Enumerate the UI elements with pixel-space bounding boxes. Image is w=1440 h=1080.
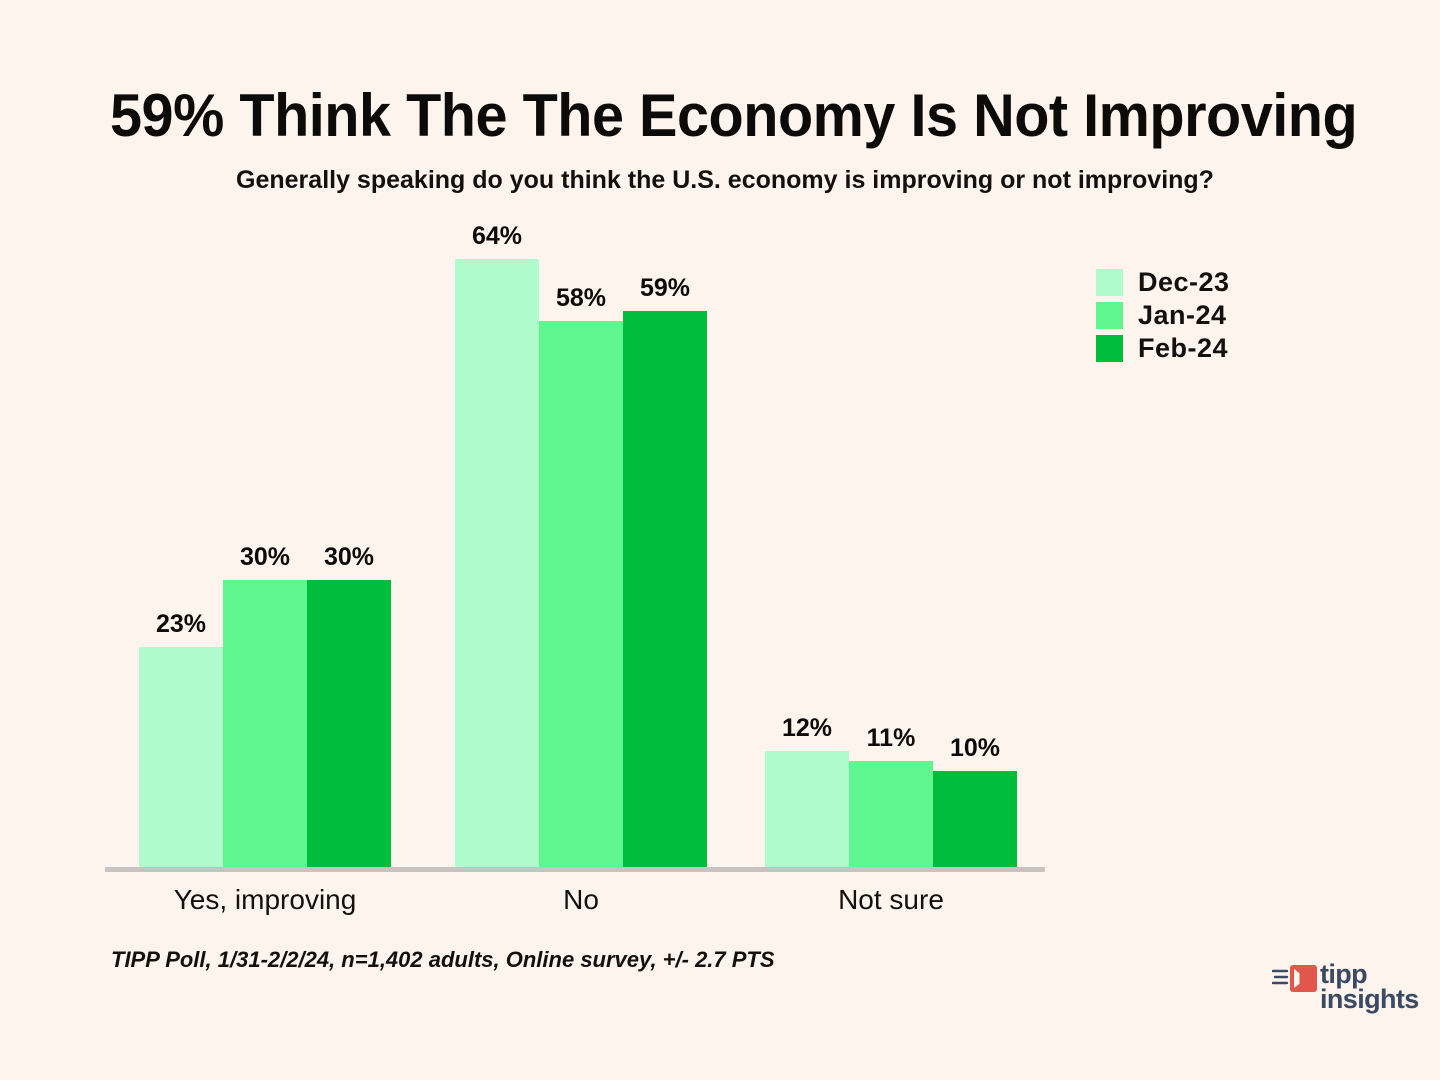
bar-wrap-jan24: 58%	[539, 211, 623, 867]
legend-label-jan24: Jan-24	[1138, 300, 1227, 331]
category-label-not-sure: Not sure	[745, 884, 1037, 916]
bar-value-label: 30%	[307, 543, 391, 572]
tipp-arrow-mark-icon	[1272, 965, 1318, 997]
logo-wordmark: tipp insights	[1320, 962, 1419, 1012]
bar-value-label: 10%	[933, 734, 1017, 763]
logo-word-insights: insights	[1320, 987, 1419, 1012]
bar-dec23[interactable]	[139, 647, 223, 867]
plot-area: 23% 30% 30% Yes, improving 64%	[105, 210, 1050, 872]
bar-value-label: 12%	[765, 714, 849, 743]
bar-dec23[interactable]	[455, 259, 539, 867]
bar-wrap-dec23: 23%	[139, 211, 223, 867]
bar-wrap-jan24: 11%	[849, 211, 933, 867]
category-label-yes-improving: Yes, improving	[119, 884, 411, 916]
legend-item-jan24[interactable]: Jan-24	[1096, 299, 1230, 332]
x-axis-line	[105, 867, 1045, 872]
legend-swatch-dec23	[1096, 269, 1123, 296]
legend-swatch-feb24	[1096, 335, 1123, 362]
legend-label-dec23: Dec-23	[1138, 267, 1230, 298]
bar-wrap-dec23: 12%	[765, 211, 849, 867]
bar-value-label: 30%	[223, 543, 307, 572]
bar-wrap-jan24: 30%	[223, 211, 307, 867]
bar-jan24[interactable]	[539, 321, 623, 867]
bar-set: 12% 11% 10%	[765, 211, 1017, 867]
source-footnote: TIPP Poll, 1/31-2/2/24, n=1,402 adults, …	[111, 947, 775, 973]
page-title: 59% Think The The Economy Is Not Improvi…	[110, 82, 1291, 150]
bar-value-label: 58%	[539, 284, 623, 313]
category-label-no: No	[435, 884, 727, 916]
bar-jan24[interactable]	[849, 761, 933, 867]
bar-wrap-feb24: 30%	[307, 211, 391, 867]
legend-item-dec23[interactable]: Dec-23	[1096, 266, 1230, 299]
bar-wrap-dec23: 64%	[455, 211, 539, 867]
bar-set: 23% 30% 30%	[139, 211, 391, 867]
chart-legend: Dec-23 Jan-24 Feb-24	[1096, 266, 1230, 365]
bar-value-label: 59%	[623, 274, 707, 303]
legend-item-feb24[interactable]: Feb-24	[1096, 332, 1230, 365]
legend-label-feb24: Feb-24	[1138, 333, 1228, 364]
bar-value-label: 11%	[849, 724, 933, 753]
bar-feb24[interactable]	[933, 771, 1017, 867]
bar-wrap-feb24: 59%	[623, 211, 707, 867]
bar-value-label: 64%	[455, 222, 539, 251]
bar-feb24[interactable]	[307, 580, 391, 867]
bar-jan24[interactable]	[223, 580, 307, 867]
tipp-insights-logo: tipp insights	[1272, 962, 1419, 1012]
chart-subtitle: Generally speaking do you think the U.S.…	[110, 166, 1340, 195]
legend-swatch-jan24	[1096, 302, 1123, 329]
bar-value-label: 23%	[139, 610, 223, 639]
bar-set: 64% 58% 59%	[455, 211, 707, 867]
bar-wrap-feb24: 10%	[933, 211, 1017, 867]
bar-feb24[interactable]	[623, 311, 707, 867]
bar-dec23[interactable]	[765, 751, 849, 867]
chart-canvas: 59% Think The The Economy Is Not Improvi…	[0, 0, 1440, 1080]
